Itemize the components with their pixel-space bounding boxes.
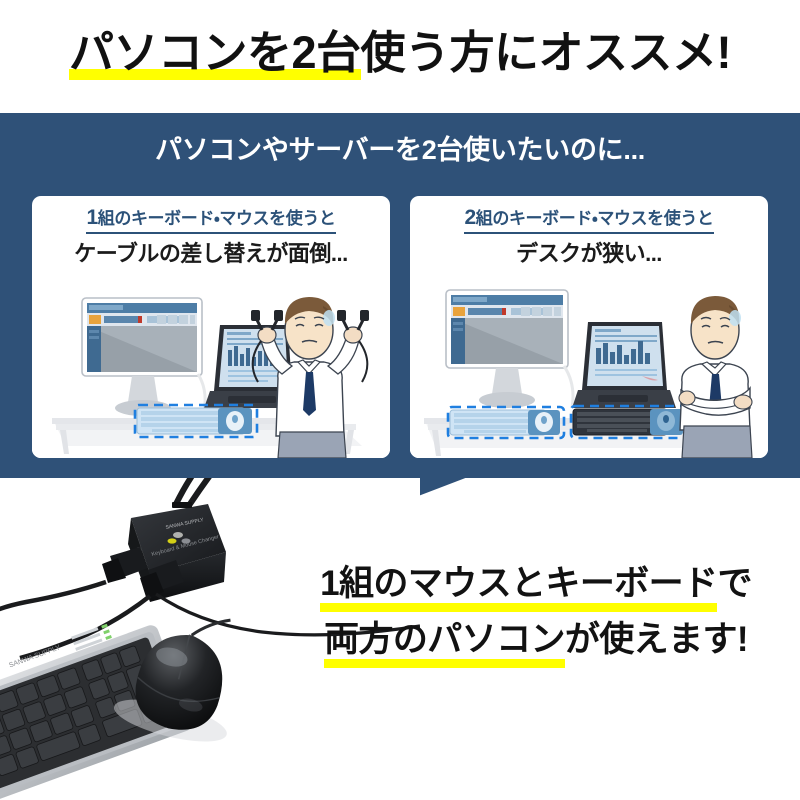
benefit-copy: 1組のマウスとキーボードで 両方のパソコンが使えます! xyxy=(286,556,786,668)
card-kicker-number: 2 xyxy=(464,206,475,229)
illustration-one-set xyxy=(32,278,390,458)
headline-rest: 使う方にオススメ! xyxy=(361,27,732,78)
benefit-line-2-rest: が使えます! xyxy=(565,620,748,659)
problem-card-one-set: 1組のキーボード・マウスを使うと ケーブルの差し替えが面倒... xyxy=(32,196,390,458)
card-header: 2組のキーボード・マウスを使うと デスクが狭い... xyxy=(410,196,768,268)
card-header: 1組のキーボード・マウスを使うと ケーブルの差し替えが面倒... xyxy=(32,196,390,268)
benefit-line-2-highlight: 両方のパソコン xyxy=(324,612,565,668)
problem-card-two-sets: 2組のキーボード・マウスを使うと デスクが狭い... xyxy=(410,196,768,458)
card-subtitle: デスクが狭い... xyxy=(422,240,756,268)
card-kicker-rest: 組のキーボード・マウスを使うと xyxy=(476,209,714,228)
panel-title: パソコンやサーバーを2台使いたいのに... xyxy=(0,132,800,168)
desk-scene-one-set-svg xyxy=(32,278,390,458)
benefit-line-1-rest: で xyxy=(717,564,751,603)
card-kicker-rest: 組のキーボード・マウスを使うと xyxy=(98,209,336,228)
page-title: パソコンを2台使う方にオススメ! xyxy=(0,27,800,80)
card-kicker-number: 1 xyxy=(86,206,97,229)
benefit-line-1: 1組のマウスとキーボードで xyxy=(286,556,786,612)
illustration-two-sets xyxy=(410,278,768,458)
benefit-line-1-highlight: 1組のマウスとキーボード xyxy=(320,556,717,612)
headline-highlight: パソコンを2台 xyxy=(69,27,361,80)
card-kicker: 2組のキーボード・マウスを使うと xyxy=(464,206,713,234)
card-subtitle: ケーブルの差し替えが面倒... xyxy=(44,240,378,268)
card-kicker: 1組のキーボード・マウスを使うと xyxy=(86,206,335,234)
headline-section: パソコンを2台使う方にオススメ! xyxy=(0,0,800,113)
desk-scene-two-sets-svg xyxy=(410,278,768,458)
benefit-line-2: 両方のパソコンが使えます! xyxy=(286,612,786,668)
